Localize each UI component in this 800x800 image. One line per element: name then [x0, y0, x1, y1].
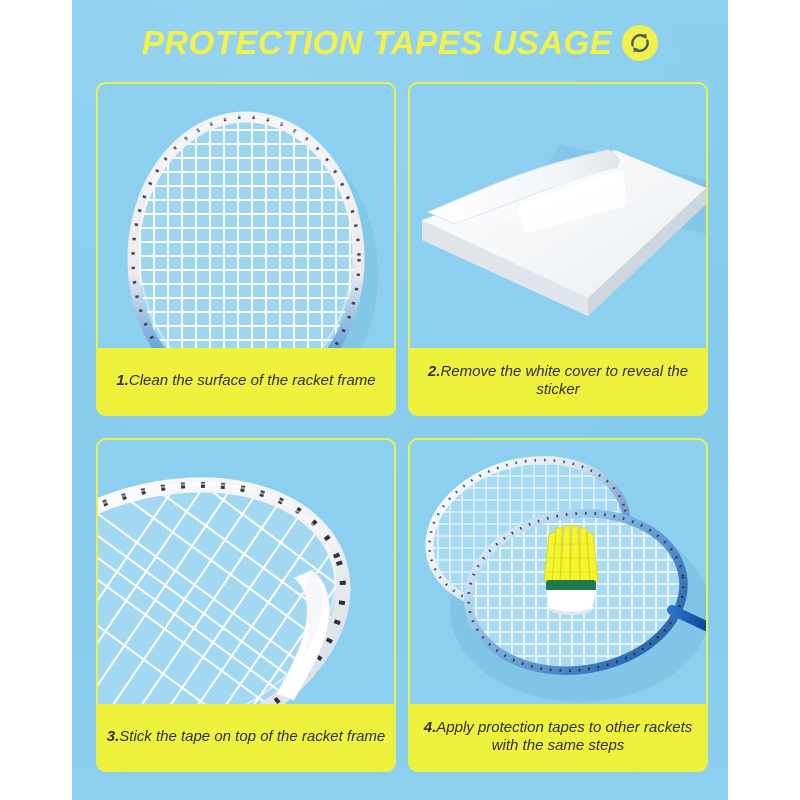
page-title: PROTECTION TAPES USAGE [142, 24, 613, 62]
poster-root: PROTECTION TAPES USAGE [0, 0, 800, 800]
poster-header: PROTECTION TAPES USAGE [72, 18, 728, 68]
step-3-text: Stick the tape on top of the racket fram… [119, 728, 385, 745]
step-2-text: Remove the white cover to reveal the sti… [440, 363, 688, 398]
step-2-photo [410, 84, 706, 348]
recycle-arrows-icon [622, 25, 658, 61]
step-4-caption: 4.Apply protection tapes to other racket… [410, 704, 706, 770]
step-card-4[interactable]: 4.Apply protection tapes to other racket… [408, 438, 708, 772]
step-card-2[interactable]: 2.Remove the white cover to reveal the s… [408, 82, 708, 416]
steps-grid: 1.Clean the surface of the racket frame [96, 82, 704, 782]
poster-board: PROTECTION TAPES USAGE [72, 0, 728, 800]
step-1-text: Clean the surface of the racket frame [129, 372, 376, 389]
step-3-photo [98, 440, 394, 704]
step-1-photo [98, 84, 394, 348]
step-2-caption: 2.Remove the white cover to reveal the s… [410, 348, 706, 414]
step-1-caption: 1.Clean the surface of the racket frame [98, 348, 394, 414]
step-3-number: 3. [107, 728, 120, 745]
step-card-1[interactable]: 1.Clean the surface of the racket frame [96, 82, 396, 416]
step-4-number: 4. [424, 719, 437, 736]
step-2-number: 2. [428, 363, 441, 380]
shuttlecock-graphic [544, 524, 598, 615]
step-card-3[interactable]: 3.Stick the tape on top of the racket fr… [96, 438, 396, 772]
step-1-number: 1. [116, 372, 129, 389]
step-4-photo [410, 440, 706, 704]
step-4-text: Apply protection tapes to other rackets … [436, 719, 692, 754]
step-3-caption: 3.Stick the tape on top of the racket fr… [98, 704, 394, 770]
